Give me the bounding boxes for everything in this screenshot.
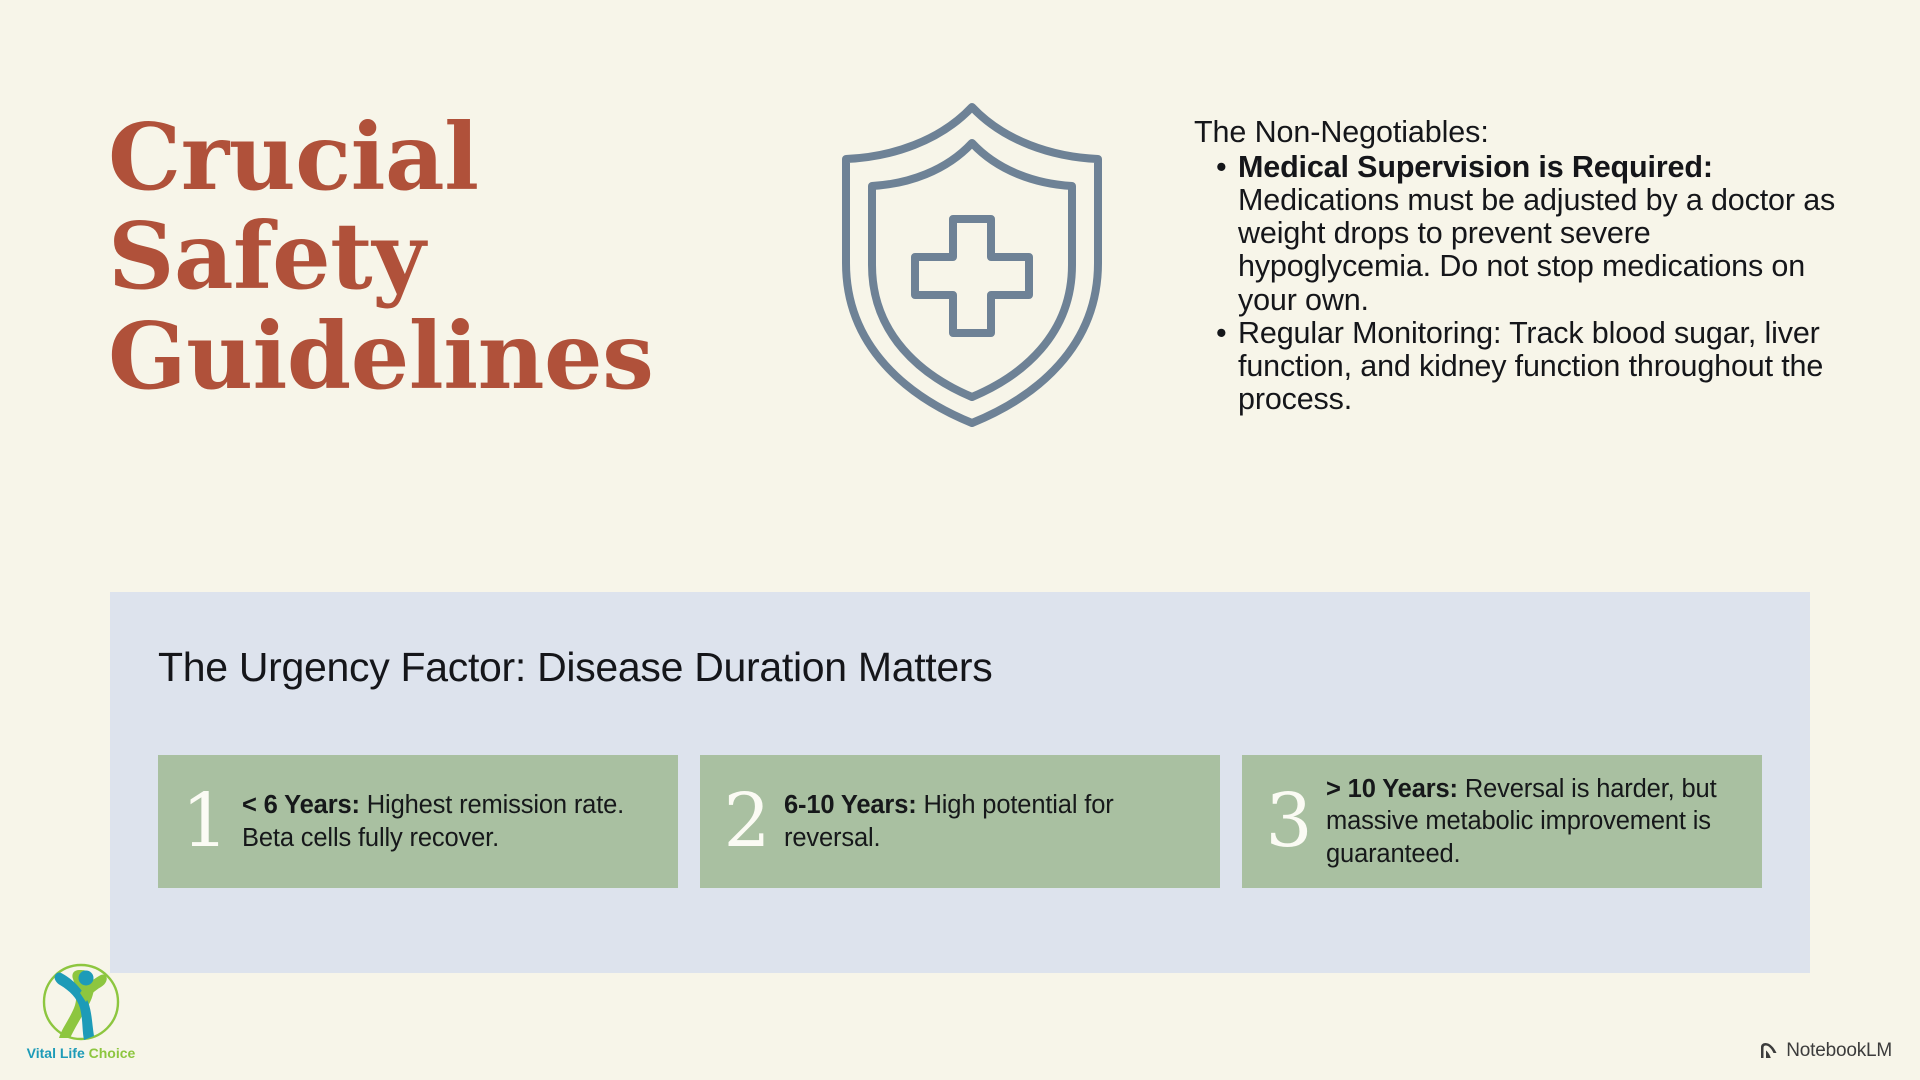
brand-logo: Vital Life Choice [22, 958, 140, 1070]
urgency-factor-panel: The Urgency Factor: Disease Duration Mat… [110, 592, 1810, 973]
card-text: < 6 Years: Highest remission rate. Beta … [242, 789, 660, 854]
bullet-body: Medications must be adjusted by a doctor… [1238, 183, 1835, 316]
card-text: 6-10 Years: High potential for reversal. [784, 789, 1202, 854]
card-lead: > 10 Years: [1326, 775, 1458, 803]
shield-medical-cross-icon [822, 95, 1122, 435]
card-number: 2 [716, 788, 778, 855]
bullet-body: Regular Monitoring: Track blood sugar, l… [1238, 316, 1823, 416]
panel-heading: The Urgency Factor: Disease Duration Mat… [158, 644, 992, 691]
duration-card: 2 6-10 Years: High potential for reversa… [700, 755, 1220, 888]
duration-card: 1 < 6 Years: Highest remission rate. Bet… [158, 755, 678, 888]
list-item: •Medical Supervision is Required: Medica… [1194, 151, 1844, 316]
notebooklm-watermark: NotebookLM [1759, 1040, 1892, 1062]
bullet-dot-icon: • [1216, 317, 1230, 350]
non-negotiables-block: The Non-Negotiables: •Medical Supervisio… [1194, 116, 1844, 416]
svg-text:Vital Life Choice: Vital Life Choice [27, 1045, 136, 1061]
brand-name-part2: Choice [85, 1045, 136, 1061]
page-title: Crucial Safety Guidelines [108, 108, 788, 406]
card-lead: < 6 Years: [242, 791, 360, 819]
notebooklm-label: NotebookLM [1786, 1040, 1892, 1062]
bullet-dot-icon: • [1216, 151, 1230, 184]
card-text: > 10 Years: Reversal is harder, but mass… [1326, 773, 1744, 870]
slide-canvas: Crucial Safety Guidelines The Non-Negoti… [0, 0, 1920, 1080]
card-number: 1 [174, 788, 236, 855]
notes-bullet-list: •Medical Supervision is Required: Medica… [1194, 151, 1844, 416]
list-item: •Regular Monitoring: Track blood sugar, … [1194, 317, 1844, 416]
card-lead: 6-10 Years: [784, 791, 917, 819]
page-title-line-2: Guidelines [108, 307, 788, 406]
page-title-line-1: Crucial Safety [108, 108, 788, 307]
duration-card-row: 1 < 6 Years: Highest remission rate. Bet… [158, 755, 1770, 888]
brand-name-part1: Vital Life [27, 1045, 85, 1061]
notes-heading: The Non-Negotiables: [1194, 116, 1844, 149]
duration-card: 3 > 10 Years: Reversal is harder, but ma… [1242, 755, 1762, 888]
notebooklm-logo-icon [1759, 1042, 1779, 1060]
bullet-lead: Medical Supervision is Required: [1238, 150, 1713, 184]
card-number: 3 [1258, 788, 1320, 855]
